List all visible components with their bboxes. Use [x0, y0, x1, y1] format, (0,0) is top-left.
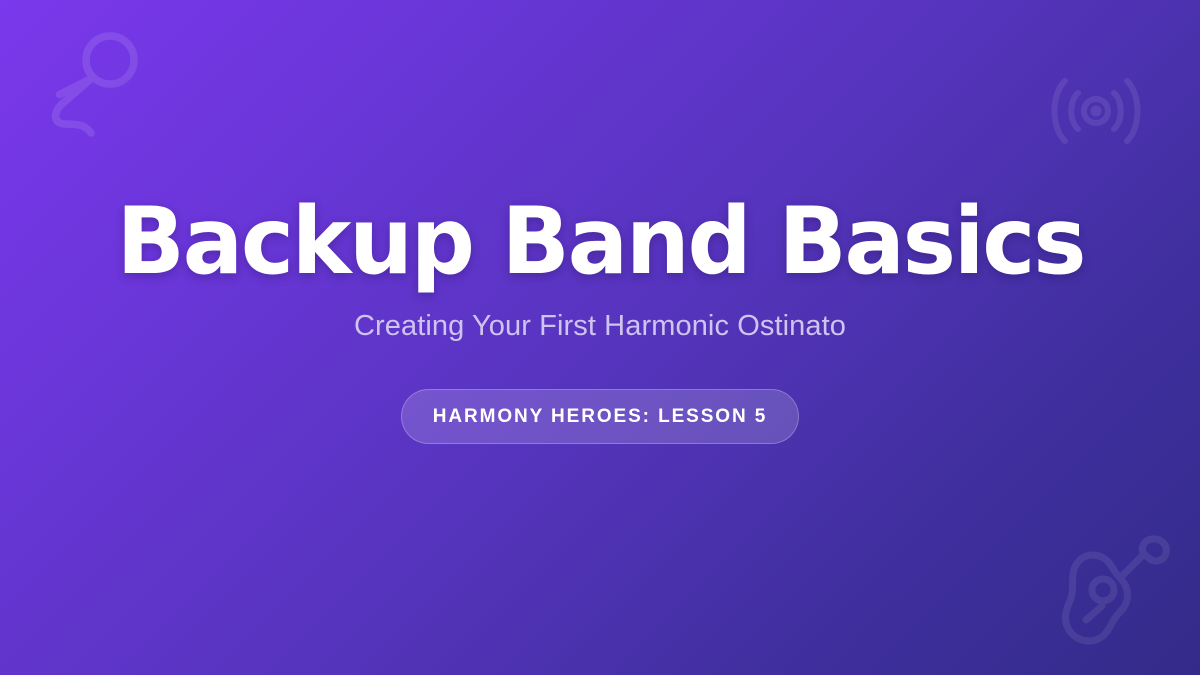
page-title: Backup Band Basics	[116, 195, 1084, 288]
slide-content: Backup Band Basics Creating Your First H…	[0, 0, 1200, 675]
lesson-badge: HARMONY HEROES: LESSON 5	[401, 389, 799, 444]
lesson-badge-label: HARMONY HEROES: LESSON 5	[433, 406, 768, 428]
slide-subtitle: Creating Your First Harmonic Ostinato	[354, 310, 846, 343]
presentation-slide: Backup Band Basics Creating Your First H…	[0, 0, 1200, 675]
